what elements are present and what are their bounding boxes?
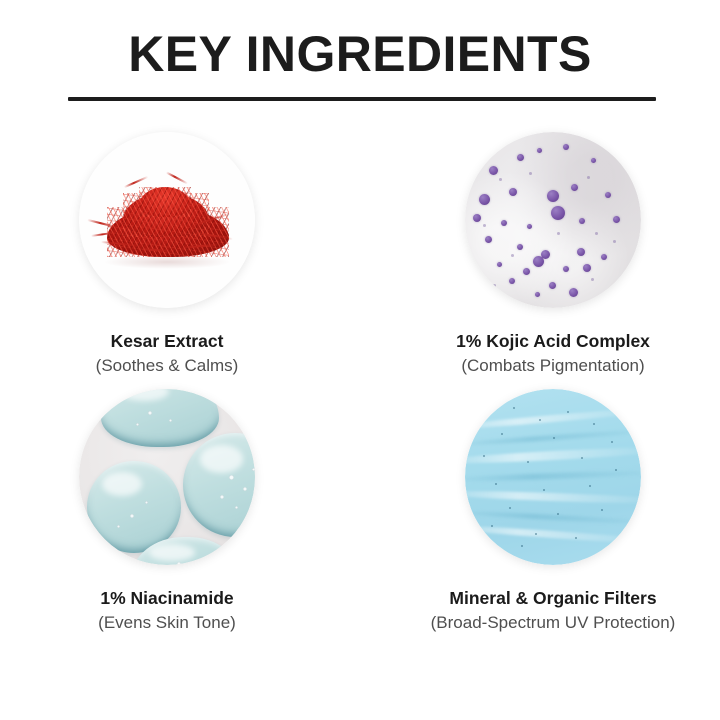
kojic-swatch-image bbox=[465, 132, 641, 308]
ingredients-row-bottom: 1% Niacinamide (Evens Skin Tone) bbox=[0, 389, 720, 634]
ingredients-row-top: Kesar Extract (Soothes & Calms) bbox=[0, 132, 720, 377]
saffron-pile bbox=[101, 187, 233, 261]
ingredient-caption: 1% Kojic Acid Complex (Combats Pigmentat… bbox=[408, 330, 698, 377]
ingredient-card-niacinamide: 1% Niacinamide (Evens Skin Tone) bbox=[43, 389, 291, 634]
ingredient-card-kesar-extract: Kesar Extract (Soothes & Calms) bbox=[43, 132, 291, 377]
saffron-loose-threads bbox=[93, 179, 241, 269]
gel-droplets bbox=[79, 389, 255, 565]
ingredient-description: (Combats Pigmentation) bbox=[408, 355, 698, 377]
ingredient-name: 1% Niacinamide bbox=[22, 587, 312, 609]
ingredients-grid: Kesar Extract (Soothes & Calms) bbox=[0, 132, 720, 634]
gel-droplets-icon bbox=[79, 389, 255, 565]
gel-droplet bbox=[183, 433, 255, 537]
page-title: KEY INGREDIENTS bbox=[0, 26, 720, 82]
saffron-threads-icon bbox=[79, 132, 255, 308]
niacinamide-swatch-image bbox=[79, 389, 255, 565]
kojic-beads-icon bbox=[465, 132, 641, 308]
ingredient-description: (Broad-Spectrum UV Protection) bbox=[408, 612, 698, 634]
ingredient-caption: Kesar Extract (Soothes & Calms) bbox=[22, 330, 312, 377]
ingredient-description: (Evens Skin Tone) bbox=[22, 612, 312, 634]
ingredient-card-mineral-organic-filters: Mineral & Organic Filters (Broad-Spectru… bbox=[429, 389, 677, 634]
page-header: KEY INGREDIENTS bbox=[0, 26, 720, 82]
ingredient-name: Kesar Extract bbox=[22, 330, 312, 352]
ingredient-name: Mineral & Organic Filters bbox=[408, 587, 698, 609]
saffron-swatch-image bbox=[79, 132, 255, 308]
ingredient-caption: Mineral & Organic Filters (Broad-Spectru… bbox=[408, 587, 698, 634]
filters-swatch-image bbox=[465, 389, 641, 565]
ingredient-description: (Soothes & Calms) bbox=[22, 355, 312, 377]
gel-specks bbox=[465, 389, 641, 565]
key-ingredients-page: KEY INGREDIENTS bbox=[0, 0, 720, 720]
ingredient-caption: 1% Niacinamide (Evens Skin Tone) bbox=[22, 587, 312, 634]
blue-gel-swatch-icon bbox=[465, 389, 641, 565]
title-divider bbox=[68, 97, 656, 101]
ingredient-card-kojic-acid-complex: 1% Kojic Acid Complex (Combats Pigmentat… bbox=[429, 132, 677, 377]
kojic-microbeads bbox=[465, 132, 641, 308]
ingredient-name: 1% Kojic Acid Complex bbox=[408, 330, 698, 352]
gel-droplet bbox=[101, 389, 219, 447]
